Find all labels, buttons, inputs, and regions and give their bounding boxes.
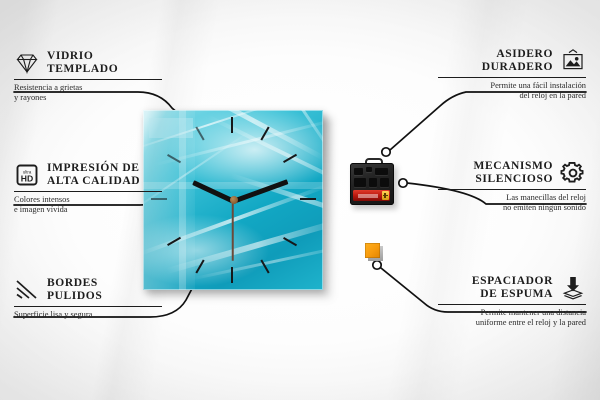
infographic-canvas: VIDRIO TEMPLADO Resistencia a grietas y … xyxy=(0,0,600,400)
glass-reflection-horizontal xyxy=(143,182,323,189)
mechanism-detail xyxy=(354,168,363,175)
feature-title-line1: MECANISMO xyxy=(473,160,553,173)
feature-desc-line1: Superficie lisa y segura xyxy=(14,310,162,320)
feature-description: Resistencia a grietas y rayones xyxy=(14,83,162,103)
feature-title-line2: TEMPLADO xyxy=(47,63,118,76)
diamond-icon xyxy=(14,50,40,76)
feature-divider xyxy=(14,79,162,80)
feature-title: VIDRIO TEMPLADO xyxy=(47,50,118,75)
feature-divider xyxy=(14,191,162,192)
feature-description: Superficie lisa y segura xyxy=(14,310,162,320)
feature-title-line2: PULIDOS xyxy=(47,290,102,303)
down-arrow-pad-icon xyxy=(560,275,586,301)
feature-title-line1: ESPACIADOR xyxy=(472,275,553,288)
feature-description: Las manecillas del reloj no emiten ningú… xyxy=(438,193,586,213)
clock-glass-face xyxy=(143,110,323,290)
feature-title: ASIDERO DURADERO xyxy=(482,48,553,73)
mechanism-detail xyxy=(380,178,389,187)
feature-desc-line2: uniforme entre el reloj y la pared xyxy=(438,318,586,328)
mechanism-body xyxy=(350,163,394,205)
feature-asidero-duradero: ASIDERO DURADERO Permite una fácil insta… xyxy=(438,48,586,101)
clock-second-hand xyxy=(232,200,234,260)
feature-bordes-pulidos: BORDES PULIDOS Superficie lisa y segura xyxy=(14,277,162,320)
mechanism-detail xyxy=(369,178,377,187)
mechanism-detail xyxy=(354,178,366,187)
feature-desc-line1: Resistencia a grietas xyxy=(14,83,162,93)
feature-title: IMPRESIÓN DE ALTA CALIDAD xyxy=(47,162,140,187)
feature-title-line2: SILENCIOSO xyxy=(473,173,553,186)
foam-spacer-top xyxy=(365,243,380,258)
feature-title: BORDES PULIDOS xyxy=(47,277,102,302)
ultra-hd-icon: ultra HD xyxy=(14,162,40,188)
feature-description: Permite mantener una distancia uniforme … xyxy=(438,308,586,328)
clock-tick xyxy=(231,267,233,283)
node-mecanismo xyxy=(399,179,407,187)
feature-divider xyxy=(14,306,162,307)
feature-desc-line1: Permite mantener una distancia xyxy=(438,308,586,318)
battery-label xyxy=(358,194,378,198)
feature-divider xyxy=(438,304,586,305)
feature-title-line2: ALTA CALIDAD xyxy=(47,175,140,188)
battery-plus-terminal xyxy=(382,191,389,200)
node-asidero xyxy=(382,148,390,156)
feature-title-line1: IMPRESIÓN DE xyxy=(47,162,140,175)
feature-desc-line1: Permite una fácil instalación xyxy=(438,81,586,91)
feature-description: Colores intensos e imagen vívida xyxy=(14,195,162,215)
feature-title-line1: ASIDERO xyxy=(482,48,553,61)
clock-mechanism xyxy=(350,163,394,207)
glass-reflection-box xyxy=(149,118,193,138)
feature-desc-line1: Las manecillas del reloj xyxy=(438,193,586,203)
feature-vidrio-templado: VIDRIO TEMPLADO Resistencia a grietas y … xyxy=(14,50,162,103)
feature-impresion-alta-calidad: ultra HD IMPRESIÓN DE ALTA CALIDAD Color… xyxy=(14,162,162,215)
feature-desc-line2: no emiten ningún sonido xyxy=(438,203,586,213)
feature-desc-line1: Colores intensos xyxy=(14,195,162,205)
feature-title-line2: DE ESPUMA xyxy=(472,288,553,301)
wall-hanger-picture-icon xyxy=(560,48,586,74)
mechanism-battery xyxy=(353,190,390,201)
gear-icon xyxy=(560,160,586,186)
mechanism-detail xyxy=(375,168,388,175)
feature-title-line1: BORDES xyxy=(47,277,102,290)
clock-tick xyxy=(231,117,233,133)
clock-tick xyxy=(300,198,316,200)
product-wall-clock xyxy=(143,110,325,292)
polished-edges-icon xyxy=(14,277,40,303)
feature-title-line1: VIDRIO xyxy=(47,50,118,63)
feature-title: MECANISMO SILENCIOSO xyxy=(473,160,553,185)
feature-desc-line2: y rayones xyxy=(14,93,162,103)
ultra-hd-icon-bottom-text: HD xyxy=(21,174,33,184)
feature-desc-line2: del reloj en la pared xyxy=(438,91,586,101)
mechanism-detail xyxy=(366,167,372,172)
foam-spacer xyxy=(365,243,380,258)
feature-title: ESPACIADOR DE ESPUMA xyxy=(472,275,553,300)
feature-divider xyxy=(438,189,586,190)
feature-espaciador-de-espuma: ESPACIADOR DE ESPUMA Permite mantener un… xyxy=(438,275,586,328)
node-espaciador xyxy=(373,261,381,269)
feature-mecanismo-silencioso: MECANISMO SILENCIOSO Las manecillas del … xyxy=(438,160,586,213)
feature-description: Permite una fácil instalación del reloj … xyxy=(438,81,586,101)
feature-title-line2: DURADERO xyxy=(482,61,553,74)
feature-divider xyxy=(438,77,586,78)
feature-desc-line2: e imagen vívida xyxy=(14,205,162,215)
clock-hands-cap xyxy=(230,196,238,204)
